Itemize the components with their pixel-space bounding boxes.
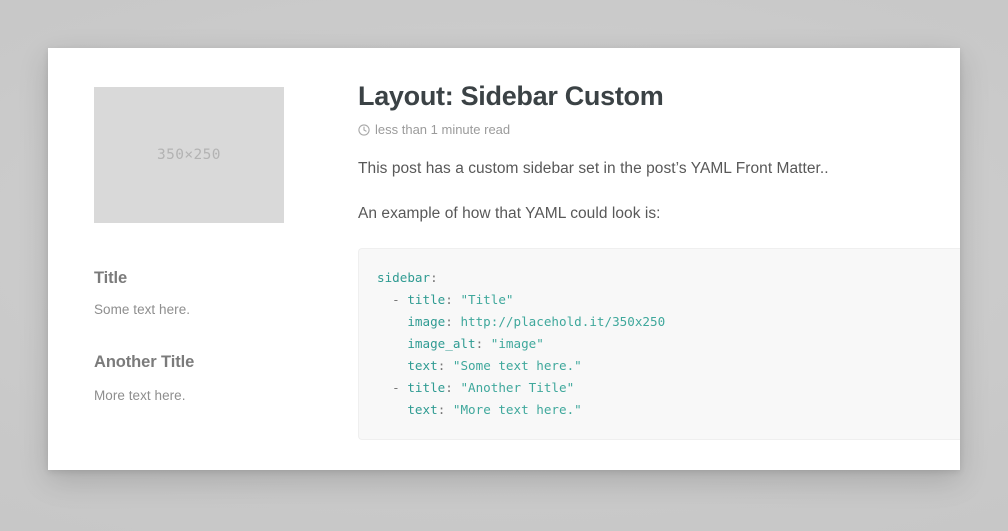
- code-token-key: text: [407, 402, 437, 417]
- code-token-punct: [377, 314, 407, 329]
- sidebar-block-title: Another Title: [94, 353, 286, 372]
- code-token-punct: [377, 402, 407, 417]
- code-token-key: title: [407, 380, 445, 395]
- code-token-punct: [377, 336, 407, 351]
- code-token-dash: -: [377, 292, 407, 307]
- sidebar-block-text: More text here.: [94, 388, 286, 403]
- code-token-punct: :: [476, 336, 491, 351]
- code-token-punct: :: [445, 380, 460, 395]
- placeholder-dimensions-label: 350×250: [157, 147, 221, 163]
- yaml-code-block: sidebar: - title: "Title" image: http://…: [358, 248, 960, 440]
- code-token-key: sidebar: [377, 270, 430, 285]
- read-time-label: less than 1 minute read: [375, 122, 510, 137]
- sidebar-block-text: Some text here.: [94, 302, 286, 317]
- sidebar-block: Another Title More text here.: [94, 353, 286, 403]
- code-token-punct: [377, 358, 407, 373]
- sidebar-block-title: Title: [94, 269, 286, 288]
- code-token-dash: -: [377, 380, 407, 395]
- code-token-str: "Another Title": [460, 380, 574, 395]
- content-card: 350×250 Title Some text here. Another Ti…: [48, 48, 960, 470]
- code-token-key: text: [407, 358, 437, 373]
- custom-sidebar: 350×250 Title Some text here. Another Ti…: [94, 87, 286, 403]
- article-main: Layout: Sidebar Custom less than 1 minut…: [358, 80, 960, 440]
- code-token-str: "Title": [460, 292, 513, 307]
- card-inner: 350×250 Title Some text here. Another Ti…: [48, 48, 960, 470]
- code-token-str: "image": [491, 336, 544, 351]
- read-time-meta: less than 1 minute read: [358, 122, 960, 137]
- article-paragraph: An example of how that YAML could look i…: [358, 205, 960, 223]
- code-token-punct: :: [430, 270, 438, 285]
- yaml-code-content: sidebar: - title: "Title" image: http://…: [377, 267, 960, 421]
- article-paragraph: This post has a custom sidebar set in th…: [358, 160, 960, 178]
- code-token-punct: :: [438, 402, 453, 417]
- sidebar-block: Title Some text here.: [94, 269, 286, 317]
- code-token-val: http://placehold.it/350x250: [460, 314, 665, 329]
- code-token-punct: :: [445, 314, 460, 329]
- code-token-key: title: [407, 292, 445, 307]
- code-token-str: "More text here.": [453, 402, 582, 417]
- code-token-key: image_alt: [407, 336, 475, 351]
- code-token-str: "Some text here.": [453, 358, 582, 373]
- code-token-punct: :: [445, 292, 460, 307]
- clock-icon: [358, 124, 370, 136]
- sidebar-placeholder-image: 350×250: [94, 87, 284, 223]
- page-background: 350×250 Title Some text here. Another Ti…: [0, 0, 1008, 531]
- code-token-punct: :: [438, 358, 453, 373]
- page-title: Layout: Sidebar Custom: [358, 80, 960, 112]
- code-token-key: image: [407, 314, 445, 329]
